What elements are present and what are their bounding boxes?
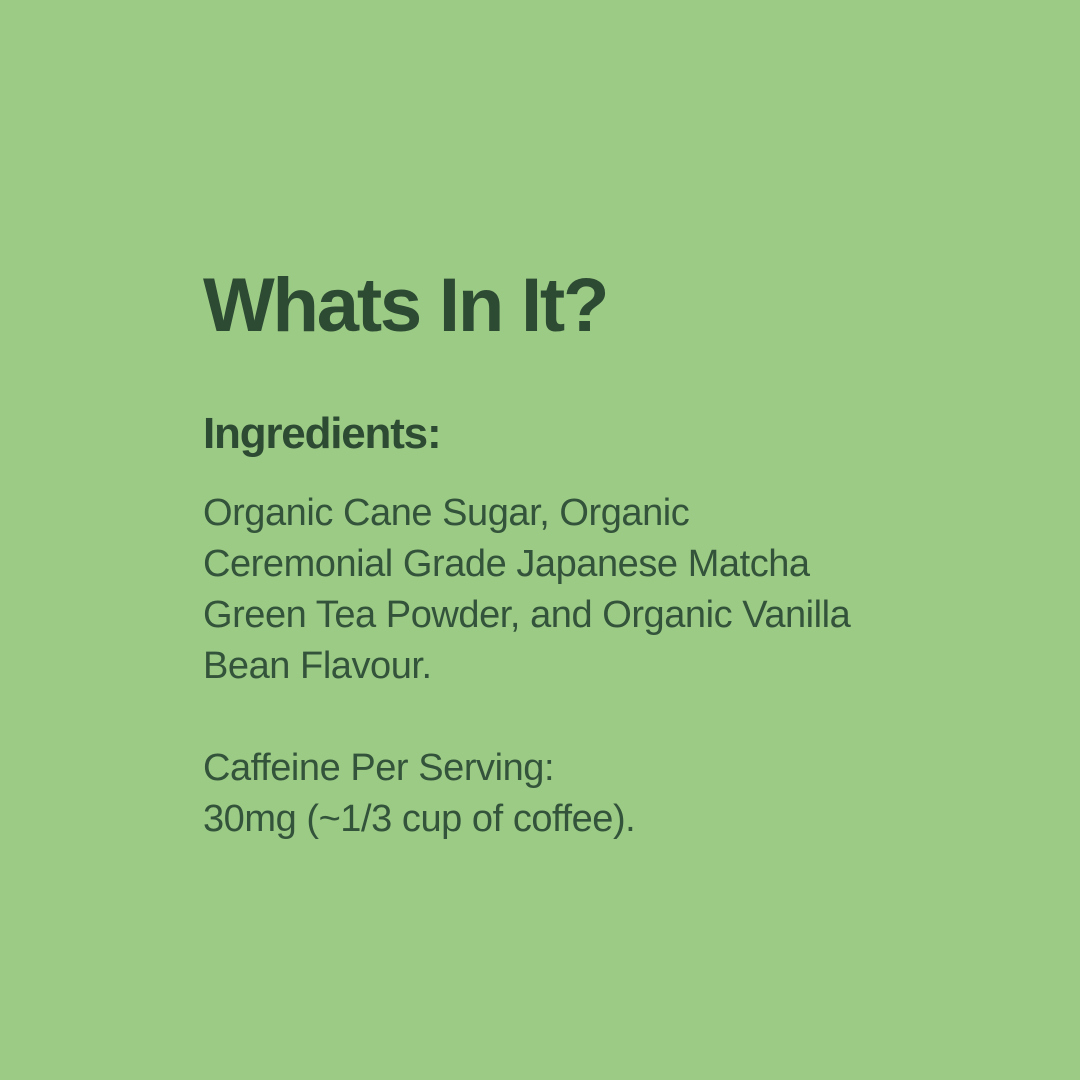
ingredients-line: Bean Flavour. (203, 641, 883, 692)
content-column: Whats In It? Ingredients: Organic Cane S… (203, 268, 903, 845)
ingredients-line: Organic Cane Sugar, Organic (203, 488, 883, 539)
page-title: Whats In It? (203, 268, 903, 344)
ingredients-heading: Ingredients: (203, 412, 903, 456)
ingredients-text: Organic Cane Sugar, Organic Ceremonial G… (203, 488, 883, 692)
caffeine-block: Caffeine Per Serving: 30mg (~1/3 cup of … (203, 743, 883, 845)
ingredients-line: Green Tea Powder, and Organic Vanilla (203, 590, 883, 641)
ingredients-info-card: Whats In It? Ingredients: Organic Cane S… (0, 0, 1080, 1080)
caffeine-value: 30mg (~1/3 cup of coffee). (203, 794, 883, 845)
ingredients-line: Ceremonial Grade Japanese Matcha (203, 539, 883, 590)
caffeine-label: Caffeine Per Serving: (203, 743, 883, 794)
